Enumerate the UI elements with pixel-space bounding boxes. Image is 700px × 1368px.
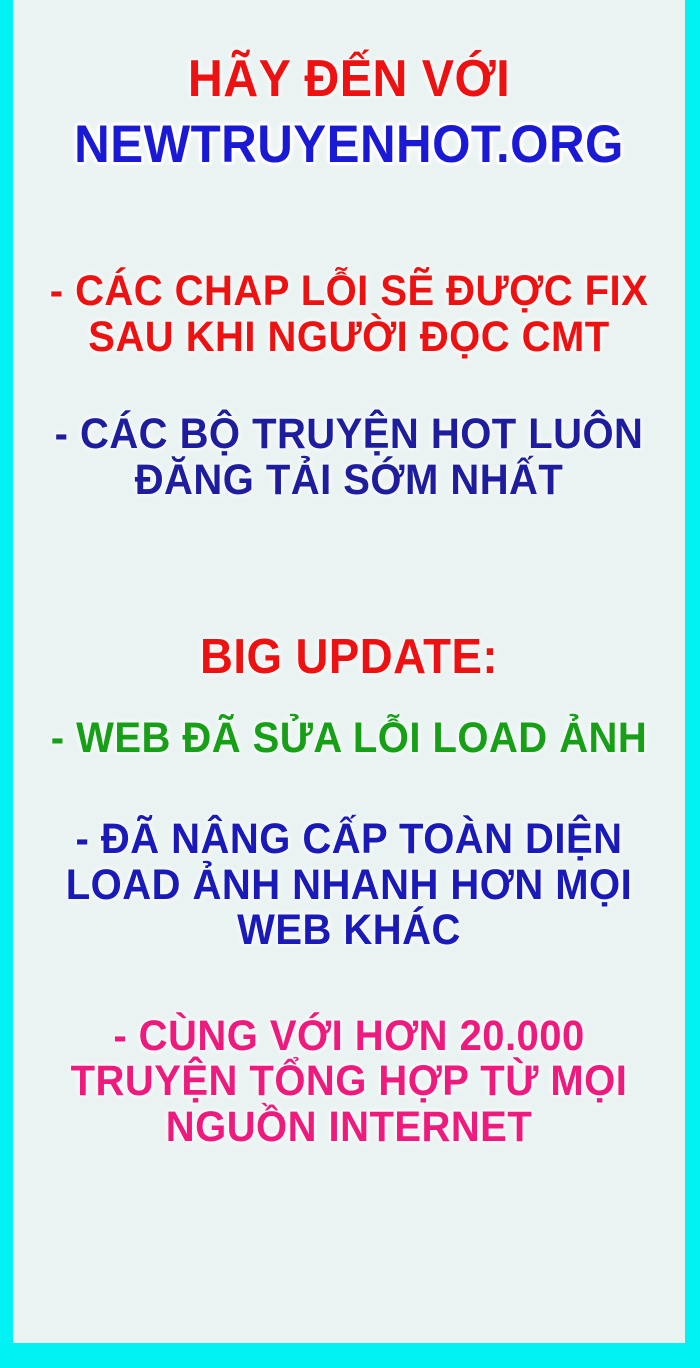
big-update-upgrade-line-3: WEB KHÁC: [44, 908, 654, 954]
big-update-title: BIG UPDATE:: [44, 632, 654, 684]
note-hot-series-line-1: - CÁC BỘ TRUYỆN HOT LUÔN: [44, 412, 654, 458]
big-update-item-image-fix: - WEB ĐÃ SỬA LỖI LOAD ẢNH: [21, 684, 677, 762]
big-update-upgrade-line-1: - ĐÃ NÂNG CẤP TOÀN DIỆN: [44, 817, 654, 863]
note-hot-series-line-2: ĐĂNG TẢI SỚM NHẤT: [44, 458, 654, 504]
note-chap-fix-line-1: - CÁC CHAP LỖI SẼ ĐƯỢC FIX: [44, 269, 654, 315]
big-update-catalog-line-1: - CÙNG VỚI HƠN 20.000: [44, 1014, 654, 1060]
big-update-item-upgrade: - ĐÃ NÂNG CẤP TOÀN DIỆN LOAD ẢNH NHANH H…: [21, 761, 677, 954]
big-update-image-fix-line-1: - WEB ĐÃ SỬA LỖI LOAD ẢNH: [44, 716, 654, 762]
heading-line-1: HÃY ĐẾN VỚI: [44, 52, 654, 107]
note-block-chap-fix: - CÁC CHAP LỖI SẼ ĐƯỢC FIX SAU KHI NGƯỜI…: [21, 173, 677, 360]
big-update-item-catalog: - CÙNG VỚI HƠN 20.000 TRUYỆN TỔNG HỢP TỪ…: [21, 954, 677, 1151]
big-update-catalog-line-3: NGUỒN INTERNET: [44, 1105, 654, 1151]
brand-url-text[interactable]: NEWTRUYENHOT.ORG: [44, 117, 654, 173]
promo-banner: HÃY ĐẾN VỚI NEWTRUYENHOT.ORG - CÁC CHAP …: [0, 0, 700, 1368]
note-block-hot-series: - CÁC BỘ TRUYỆN HOT LUÔN ĐĂNG TẢI SỚM NH…: [21, 360, 677, 503]
note-chap-fix-line-2: SAU KHI NGƯỜI ĐỌC CMT: [44, 315, 654, 361]
banner-panel: HÃY ĐẾN VỚI NEWTRUYENHOT.ORG - CÁC CHAP …: [13, 0, 685, 1343]
big-update-title-block: BIG UPDATE:: [21, 504, 677, 684]
big-update-upgrade-line-2: LOAD ẢNH NHANH HƠN MỌI: [44, 863, 654, 909]
heading-block: HÃY ĐẾN VỚI: [21, 0, 677, 107]
banner-content: HÃY ĐẾN VỚI NEWTRUYENHOT.ORG - CÁC CHAP …: [13, 0, 685, 1151]
big-update-catalog-line-2: TRUYỆN TỔNG HỢP TỪ MỌI: [44, 1059, 654, 1105]
brand-url-block[interactable]: NEWTRUYENHOT.ORG: [21, 107, 677, 173]
